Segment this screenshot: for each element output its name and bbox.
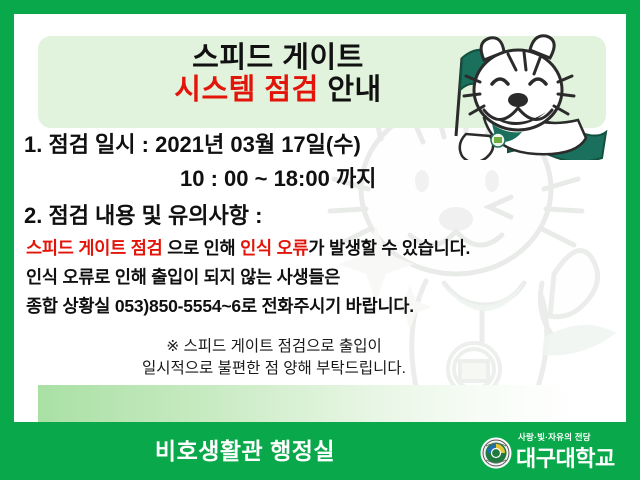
notice-line-3: 종합 상황실 053)850-5554~6로 전화주시기 바랍니다. — [26, 293, 620, 318]
content-item: 2. 점검 내용 및 유의사항 : — [24, 198, 620, 230]
university-emblem-icon — [480, 437, 512, 469]
schedule-time: 10 : 00 ~ 18:00 까지 — [180, 161, 620, 193]
notice-mid-text: 으로 인해 — [163, 238, 241, 258]
footer-band: 비호생활관 행정실 사랑·빛·자유의 전당 대구대학교 — [0, 422, 640, 480]
title-suffix: 안내 — [319, 74, 382, 106]
title-box: 스피드 게이트 시스템 점검 안내 — [38, 36, 606, 128]
notice-highlight-gate: 스피드 게이트 점검 — [26, 238, 163, 258]
poster-canvas: 스피드 게이트 시스템 점검 안내 — [14, 14, 626, 422]
notice-tail-text: 가 발생할 수 있습니다. — [308, 238, 470, 258]
notice-highlight-error: 인식 오류 — [240, 238, 308, 258]
notice-line-2: 인식 오류로 인해 출입이 되지 않는 사생들은 — [26, 264, 620, 289]
note-line-1: ※ 스피드 게이트 점검으로 출입이 — [14, 336, 534, 358]
notice-line-1: 스피드 게이트 점검 으로 인해 인식 오류가 발생할 수 있습니다. — [26, 235, 620, 260]
university-logo: 사랑·빛·자유의 전당 대구대학교 — [480, 430, 632, 472]
notice-poster: 스피드 게이트 시스템 점검 안내 — [0, 0, 640, 480]
body-text-block: 1. 점검 일시 : 2021년 03월 17일(수) 10 : 00 ~ 18… — [20, 127, 620, 322]
note-line-2: 일시적으로 불편한 점 양해 부탁드립니다. — [14, 358, 534, 380]
note-block: ※ 스피드 게이트 점검으로 출입이 일시적으로 불편한 점 양해 부탁드립니다… — [14, 336, 534, 381]
bottom-gradient-strip — [38, 385, 626, 422]
title-highlight: 시스템 점검 — [174, 74, 318, 106]
schedule-item: 1. 점검 일시 : 2021년 03월 17일(수) — [24, 127, 620, 159]
university-name: 대구대학교 — [516, 441, 615, 473]
